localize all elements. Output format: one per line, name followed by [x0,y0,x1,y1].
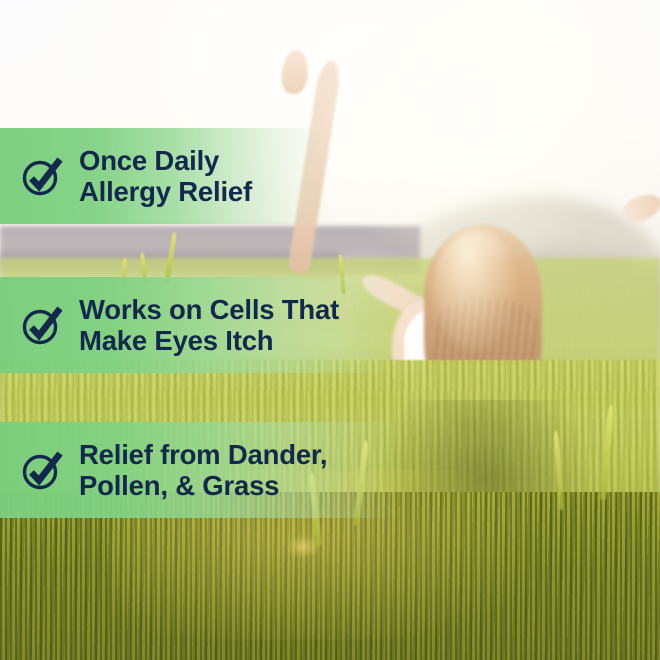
benefit-text-1: Once Daily Allergy Relief [79,145,252,208]
right-hand [619,189,660,226]
check-circle-icon [19,447,65,493]
hair-sun-highlight [432,230,518,350]
benefit-banner-1: Once Daily Allergy Relief [0,128,332,224]
benefit-text-3: Relief from Dander, Pollen, & Grass [79,439,327,502]
benefit-text-2: Works on Cells That Make Eyes Itch [79,294,339,357]
left-hand [280,49,310,95]
benefit-banner-2: Works on Cells That Make Eyes Itch [0,277,392,373]
lens-flare-dot [286,536,320,558]
check-circle-icon [19,302,65,348]
benefit-banner-3: Relief from Dander, Pollen, & Grass [0,422,402,518]
check-circle-icon [19,153,65,199]
product-benefits-ad: Once Daily Allergy Relief Works on Cells… [0,0,660,660]
